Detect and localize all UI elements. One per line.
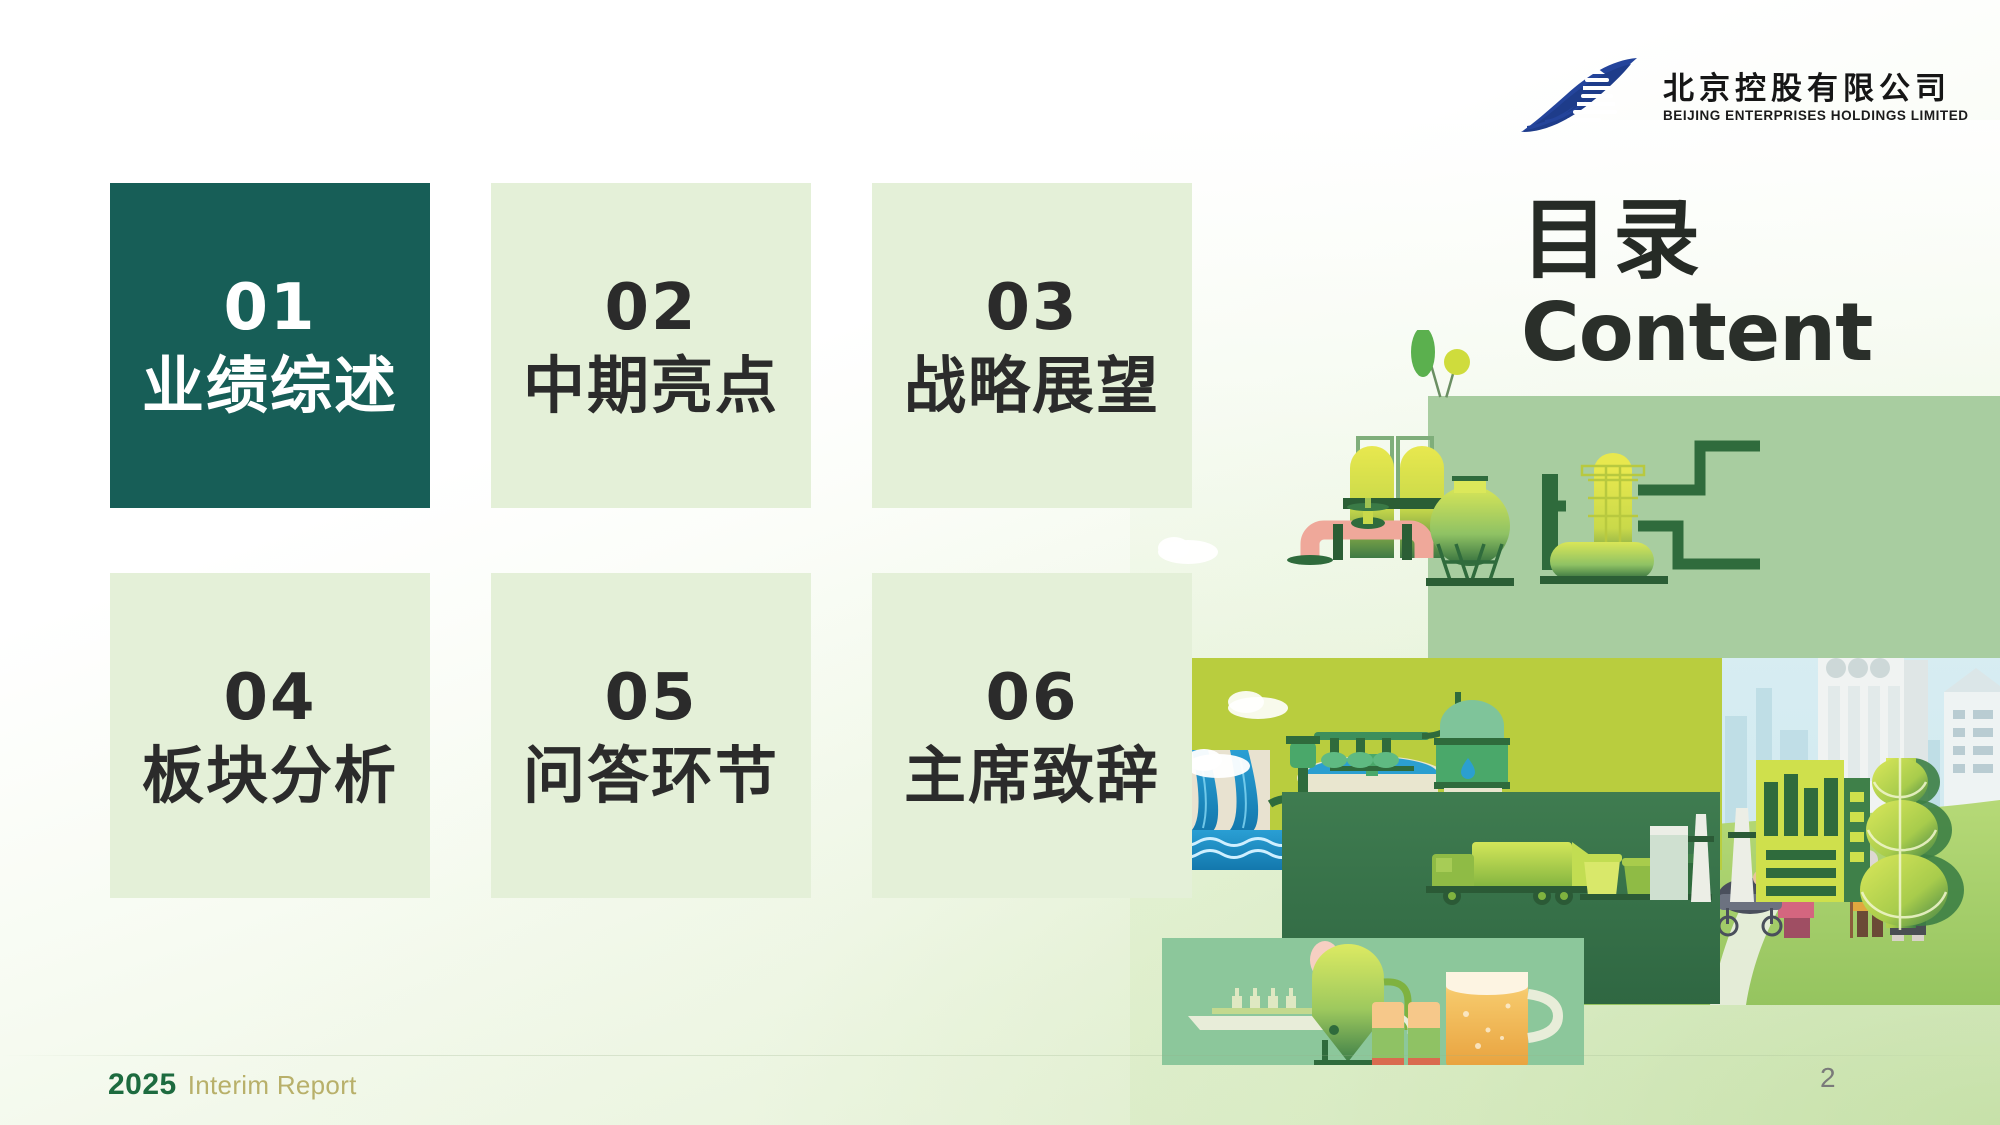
agenda-item-02[interactable]: 02 中期亮点 <box>491 183 811 508</box>
footer-year: 2025 <box>108 1068 177 1102</box>
footer-divider <box>0 1055 2000 1056</box>
agenda-item-05-number: 05 <box>604 665 697 733</box>
agenda-item-04[interactable]: 04 板块分析 <box>110 573 430 898</box>
agenda-item-06-number: 06 <box>985 665 1078 733</box>
agenda-item-04-number: 04 <box>223 665 316 733</box>
agenda-item-01-label: 业绩综述 <box>142 351 398 422</box>
agenda-item-06[interactable]: 06 主席致辞 <box>872 573 1192 898</box>
agenda-item-05-label: 问答环节 <box>523 741 779 812</box>
agenda-item-02-number: 02 <box>604 275 697 343</box>
agenda-item-05[interactable]: 05 问答环节 <box>491 573 811 898</box>
agenda-item-01[interactable]: 01 业绩综述 <box>110 183 430 508</box>
agenda-item-03-label: 战略展望 <box>904 351 1160 422</box>
logo-company-cn: 北京控股有限公司 <box>1663 73 1969 104</box>
page-number: 2 <box>1820 1062 1836 1094</box>
energy-plant <box>1756 760 1870 902</box>
page-title-cn: 目录 <box>1521 196 1872 285</box>
poplar-tree-icon <box>1411 330 1470 398</box>
agenda-item-01-number: 01 <box>223 275 316 343</box>
footer: 2025 Interim Report <box>108 1068 357 1102</box>
brewery-panel <box>1162 938 1584 1065</box>
agenda-item-06-label: 主席致辞 <box>904 741 1160 812</box>
agenda-item-03-number: 03 <box>985 275 1078 343</box>
agenda-item-02-label: 中期亮点 <box>523 351 779 422</box>
page-title: 目录 Content <box>1521 196 1872 377</box>
presentation-slide: 北京控股有限公司 BEIJING ENTERPRISES HOLDINGS LI… <box>0 0 2000 1125</box>
agenda-item-03[interactable]: 03 战略展望 <box>872 183 1192 508</box>
page-title-en: Content <box>1521 289 1872 377</box>
segment-illustration <box>1150 330 2000 1065</box>
agenda-menu-grid: 01 业绩综述 02 中期亮点 03 战略展望 04 板块分析 05 问答环节 … <box>110 183 1192 898</box>
gas-treatment-panel <box>1158 330 2000 658</box>
company-logo: 北京控股有限公司 BEIJING ENTERPRISES HOLDINGS LI… <box>1519 52 1919 144</box>
agenda-item-04-label: 板块分析 <box>142 741 398 812</box>
logo-company-en: BEIJING ENTERPRISES HOLDINGS LIMITED <box>1663 109 1969 123</box>
wing-temple-of-heaven-logo-icon <box>1519 54 1647 142</box>
footer-label: Interim Report <box>188 1070 357 1101</box>
